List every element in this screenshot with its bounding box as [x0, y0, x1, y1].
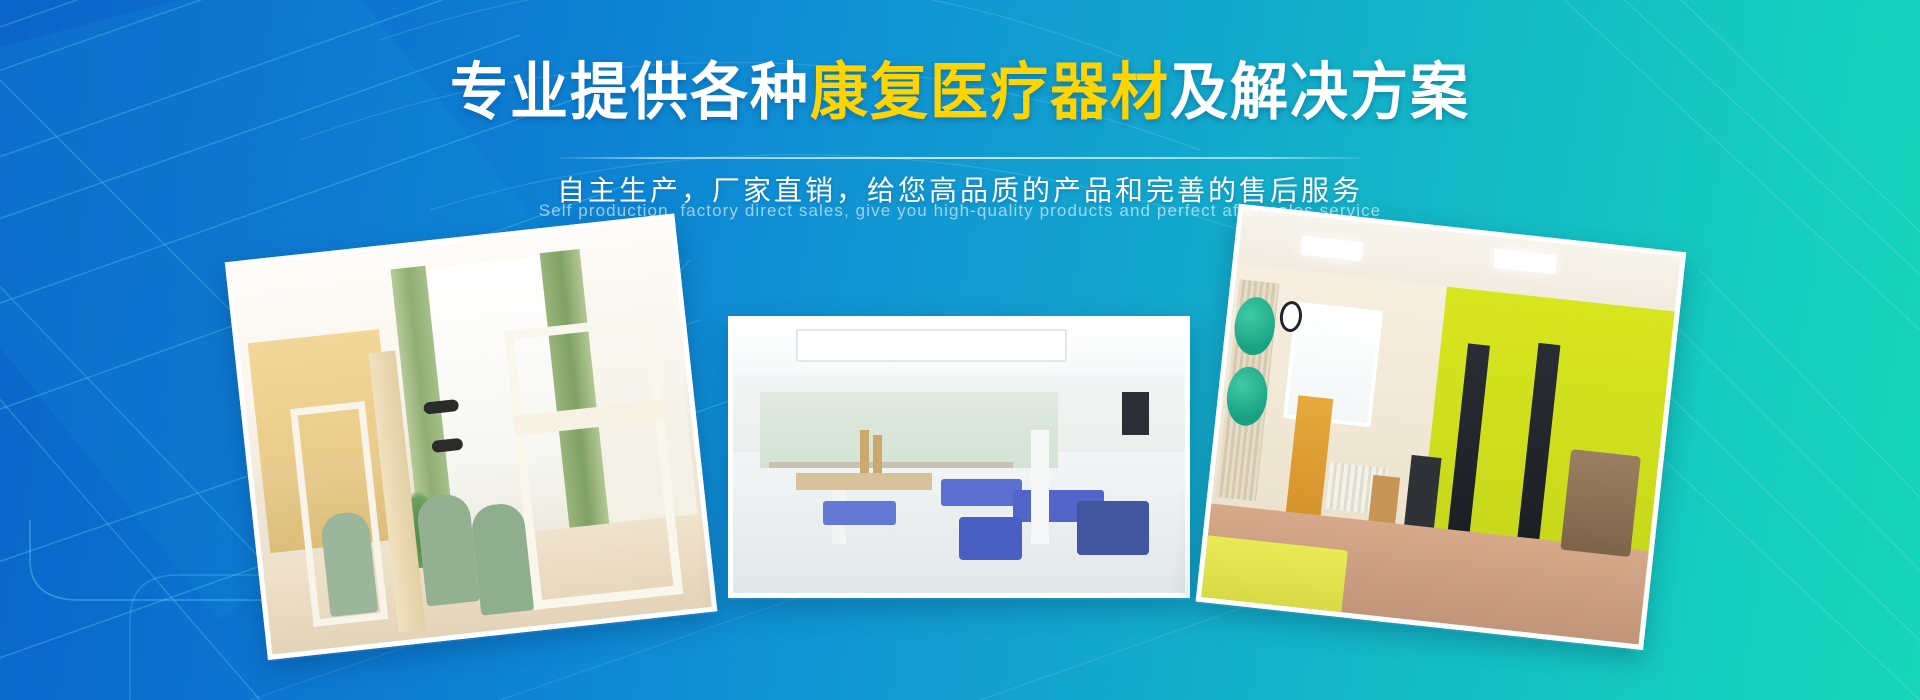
headline-segment-white-1: 专业提供各种	[450, 55, 810, 128]
photo-scene-3	[1201, 209, 1681, 644]
photo-scene-2	[733, 321, 1185, 593]
rehab-training-room-photo[interactable]	[225, 214, 718, 660]
headline-segment-highlight: 康复医疗器材	[810, 55, 1170, 128]
headline-container: 专业提供各种康复医疗器材及解决方案	[0, 63, 1920, 121]
subtitle-english: Self production, factory direct sales, g…	[0, 201, 1920, 221]
hero-banner: 专业提供各种康复医疗器材及解决方案 自主生产，厂家直销，给您高品质的产品和完善的…	[0, 0, 1920, 700]
therapy-equipment-hall-photo[interactable]	[728, 316, 1190, 598]
fitness-rehab-room-photo[interactable]	[1196, 204, 1687, 650]
headline-segment-white-2: 及解决方案	[1170, 55, 1470, 128]
page-title: 专业提供各种康复医疗器材及解决方案	[450, 61, 1470, 124]
headline-divider	[560, 157, 1360, 159]
photo-scene-1	[230, 219, 712, 654]
